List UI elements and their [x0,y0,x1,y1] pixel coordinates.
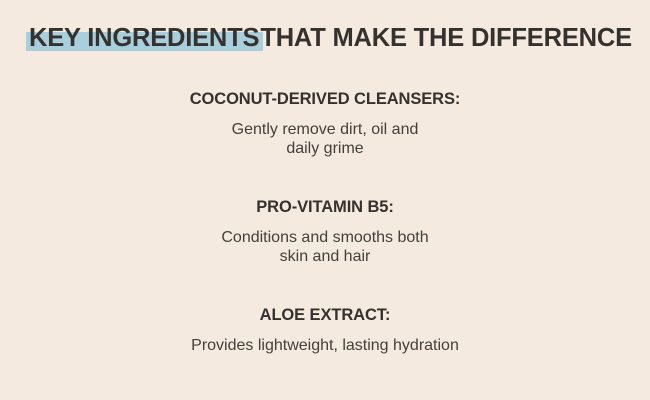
title-text: KEY INGREDIENTS THAT MAKE THE DIFFERENCE [28,24,632,52]
ingredients-poster: KEY INGREDIENTS THAT MAKE THE DIFFERENCE… [0,0,650,400]
ingredient-description-line: Gently remove dirt, oil and [0,120,650,139]
ingredient-description-line: skin and hair [0,247,650,266]
title-highlighted-phrase: KEY INGREDIENTS [28,26,260,52]
ingredient-description-line: Provides lightweight, lasting hydration [0,336,650,355]
title-remaining-phrase: THAT MAKE THE DIFFERENCE [260,26,632,52]
ingredient-heading: ALOE EXTRACT: [0,304,650,326]
ingredient-description: Provides lightweight, lasting hydration [0,336,650,355]
ingredient-description: Gently remove dirt, oil and daily grime [0,120,650,158]
ingredient-description: Conditions and smooths both skin and hai… [0,228,650,266]
ingredient-description-line: Conditions and smooths both [0,228,650,247]
ingredient-block: ALOE EXTRACT: Provides lightweight, last… [0,304,650,355]
page-title: KEY INGREDIENTS THAT MAKE THE DIFFERENCE [0,26,650,52]
ingredient-description-line: daily grime [0,139,650,158]
ingredient-heading: PRO-VITAMIN B5: [0,196,650,218]
ingredient-block: COCONUT-DERIVED CLEANSERS: Gently remove… [0,88,650,158]
ingredient-heading: COCONUT-DERIVED CLEANSERS: [0,88,650,110]
ingredient-list: COCONUT-DERIVED CLEANSERS: Gently remove… [0,88,650,355]
ingredient-block: PRO-VITAMIN B5: Conditions and smooths b… [0,196,650,266]
